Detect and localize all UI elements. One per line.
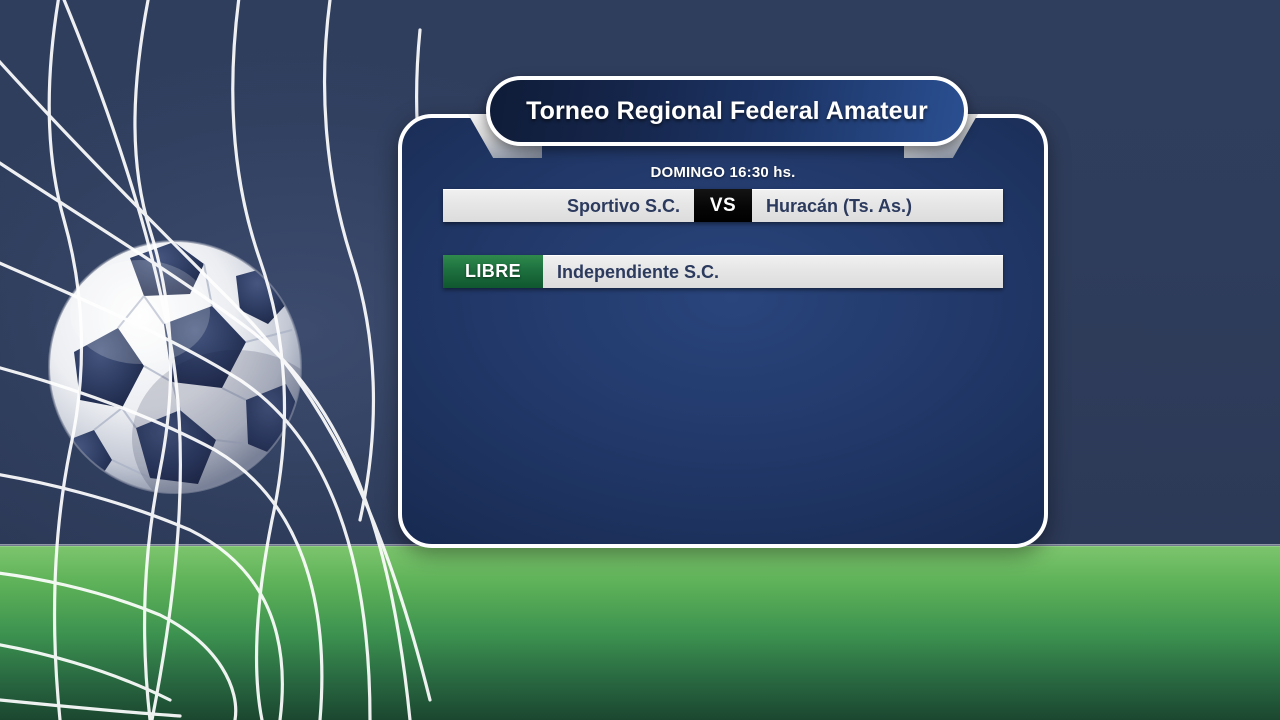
panel-body: DOMINGO 16:30 hs. Sportivo S.C. VS Hurac… xyxy=(402,118,1044,544)
page-title: Torneo Regional Federal Amateur xyxy=(526,97,928,126)
scoreboard-panel: Torneo Regional Federal Amateur DOMINGO … xyxy=(398,114,1048,548)
table-row: Sportivo S.C. VS Huracán (Ts. As.) xyxy=(443,189,1003,222)
broadcast-graphic: Torneo Regional Federal Amateur DOMINGO … xyxy=(0,0,1280,720)
bye-team-name: Independiente S.C. xyxy=(543,255,1003,288)
versus-separator: VS xyxy=(694,189,752,222)
bye-row: LIBRE Independiente S.C. xyxy=(443,255,1003,288)
away-team-name: Huracán (Ts. As.) xyxy=(752,189,1003,222)
matchday-time-label: DOMINGO 16:30 hs. xyxy=(443,164,1003,181)
tournament-title-banner: Torneo Regional Federal Amateur xyxy=(486,76,968,146)
status-badge: LIBRE xyxy=(443,255,543,288)
soccer-ball-icon xyxy=(40,232,310,502)
background-field xyxy=(0,546,1280,720)
home-team-name: Sportivo S.C. xyxy=(443,189,694,222)
